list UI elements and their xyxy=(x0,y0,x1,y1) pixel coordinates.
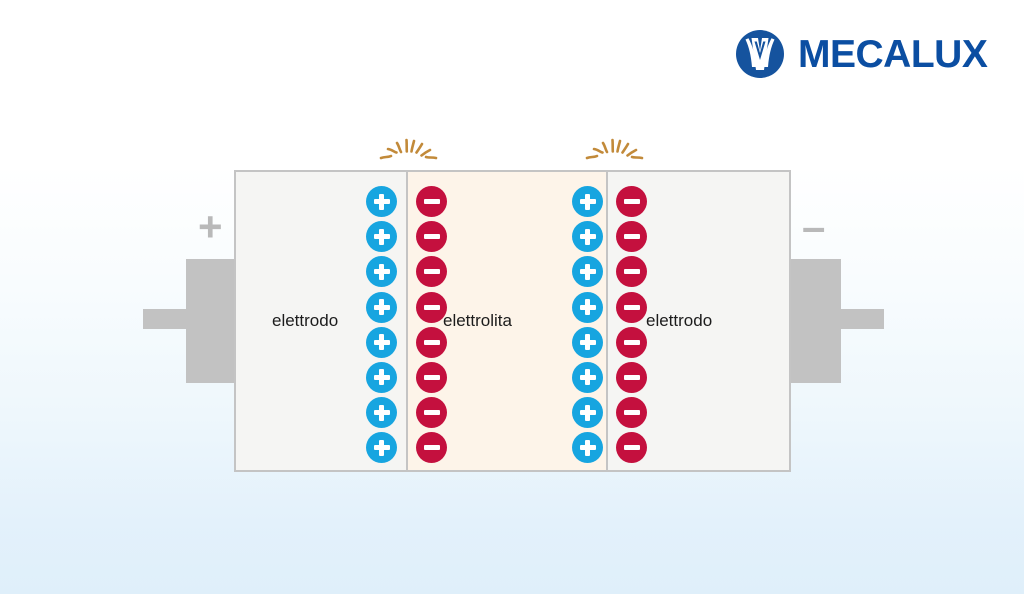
ion-symbol-horizontal-bar xyxy=(424,445,440,450)
ion-symbol-horizontal-bar xyxy=(424,269,440,274)
negative-ion xyxy=(416,186,447,217)
panel-electrode-left: elettrodo xyxy=(236,172,406,470)
negative-ion xyxy=(416,256,447,287)
positive-ion xyxy=(366,362,397,393)
positive-ion xyxy=(572,362,603,393)
ion-symbol-vertical-bar xyxy=(585,194,590,210)
ion-symbol-horizontal-bar xyxy=(424,199,440,204)
positive-ion xyxy=(572,432,603,463)
electrode-left-label: elettrodo xyxy=(272,311,338,331)
ion-symbol-horizontal-bar xyxy=(624,305,640,310)
ion-symbol-horizontal-bar xyxy=(424,305,440,310)
positive-ion xyxy=(572,221,603,252)
negative-ion xyxy=(416,221,447,252)
ion-symbol-vertical-bar xyxy=(379,264,384,280)
ion-symbol-horizontal-bar xyxy=(624,410,640,415)
positive-ion xyxy=(572,256,603,287)
ion-column-positive-right xyxy=(572,186,603,463)
electrode-right-label: elettrodo xyxy=(646,311,712,331)
ion-symbol-vertical-bar xyxy=(585,369,590,385)
ion-symbol-vertical-bar xyxy=(379,334,384,350)
ion-symbol-vertical-bar xyxy=(585,264,590,280)
ion-symbol-vertical-bar xyxy=(379,369,384,385)
negative-ion xyxy=(616,327,647,358)
negative-ion xyxy=(616,397,647,428)
positive-ion xyxy=(366,221,397,252)
ion-symbol-horizontal-bar xyxy=(624,445,640,450)
positive-ion xyxy=(366,432,397,463)
ion-symbol-horizontal-bar xyxy=(624,269,640,274)
positive-ion xyxy=(572,327,603,358)
negative-ion xyxy=(616,432,647,463)
ion-symbol-vertical-bar xyxy=(585,299,590,315)
negative-terminal-block xyxy=(788,259,841,383)
ion-symbol-horizontal-bar xyxy=(624,375,640,380)
ion-symbol-horizontal-bar xyxy=(624,340,640,345)
panel-electrode-right: elettrodo xyxy=(608,172,789,470)
positive-ion xyxy=(572,397,603,428)
ion-symbol-vertical-bar xyxy=(379,229,384,245)
brand-name: MECALUX xyxy=(798,35,987,74)
negative-ion xyxy=(416,432,447,463)
mecalux-m-circle-icon xyxy=(733,27,787,81)
spark-burst-icon-right xyxy=(584,138,646,172)
ion-symbol-horizontal-bar xyxy=(624,199,640,204)
ion-symbol-horizontal-bar xyxy=(424,234,440,239)
spark-burst-icon-left xyxy=(378,138,440,172)
negative-ion xyxy=(616,362,647,393)
negative-ion xyxy=(416,362,447,393)
negative-ion xyxy=(616,221,647,252)
ion-symbol-horizontal-bar xyxy=(624,234,640,239)
positive-ion xyxy=(366,292,397,323)
ion-symbol-vertical-bar xyxy=(585,229,590,245)
negative-ion xyxy=(416,397,447,428)
diagram-canvas: MECALUX + – elettrodo elettrolita elettr… xyxy=(0,0,1024,594)
mecalux-logo: MECALUX xyxy=(733,27,987,81)
ion-column-negative-right xyxy=(616,186,647,463)
ion-column-positive-left xyxy=(366,186,397,463)
ion-symbol-vertical-bar xyxy=(379,299,384,315)
ion-symbol-horizontal-bar xyxy=(424,375,440,380)
battery-cell: elettrodo elettrolita elettrodo xyxy=(234,170,791,472)
negative-ion xyxy=(616,292,647,323)
ion-symbol-vertical-bar xyxy=(585,334,590,350)
electrolyte-label: elettrolita xyxy=(443,311,512,331)
positive-ion xyxy=(572,292,603,323)
positive-ion xyxy=(366,256,397,287)
negative-ion xyxy=(616,186,647,217)
ion-symbol-horizontal-bar xyxy=(424,340,440,345)
ion-symbol-horizontal-bar xyxy=(424,410,440,415)
ion-symbol-vertical-bar xyxy=(585,405,590,421)
negative-terminal-tab xyxy=(838,309,884,329)
negative-ion xyxy=(416,327,447,358)
positive-ion xyxy=(366,327,397,358)
negative-ion xyxy=(616,256,647,287)
positive-ion xyxy=(572,186,603,217)
ion-symbol-vertical-bar xyxy=(379,405,384,421)
positive-terminal-block xyxy=(186,259,239,383)
panel-electrolyte: elettrolita xyxy=(406,172,608,470)
ion-symbol-vertical-bar xyxy=(585,440,590,456)
positive-ion xyxy=(366,186,397,217)
positive-ion xyxy=(366,397,397,428)
positive-polarity-symbol: + xyxy=(198,206,223,248)
ion-symbol-vertical-bar xyxy=(379,194,384,210)
ion-symbol-vertical-bar xyxy=(379,440,384,456)
positive-terminal-tab xyxy=(143,309,189,329)
negative-polarity-symbol: – xyxy=(802,206,825,248)
